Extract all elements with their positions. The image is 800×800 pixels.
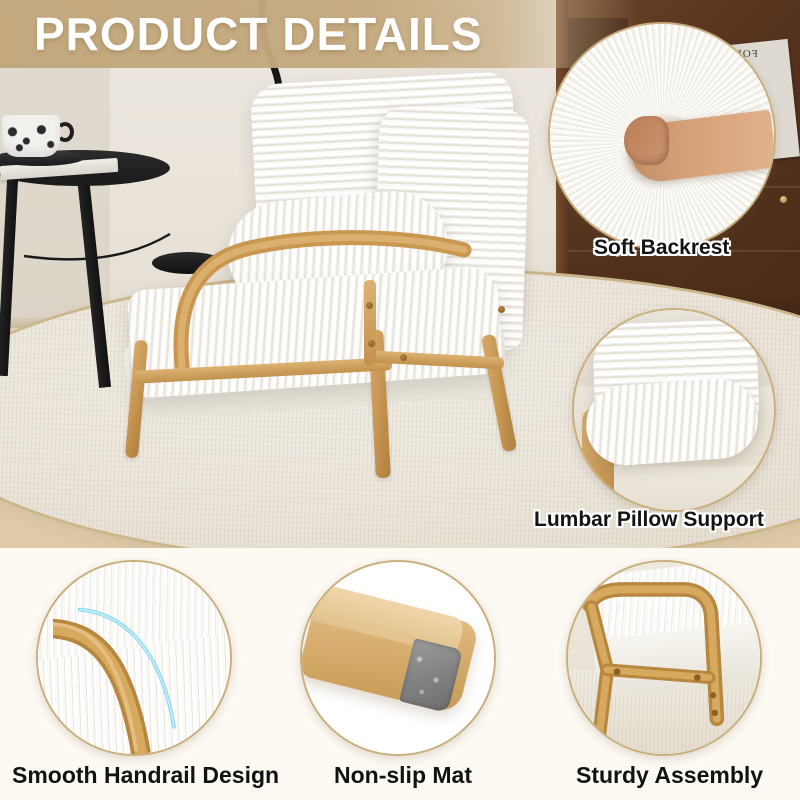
feature-label-smooth-handrail: Smooth Handrail Design <box>12 762 279 789</box>
chair-post-vertical <box>364 280 376 366</box>
assembly-pin <box>400 354 407 361</box>
callout-lumbar-pillow-support <box>572 308 776 512</box>
assembly-pin <box>366 302 373 309</box>
page-title: PRODUCT DETAILS <box>34 8 483 60</box>
mug-pattern <box>2 115 60 157</box>
callout-label-lumbar-pillow: Lumbar Pillow Support <box>534 508 764 532</box>
assembly-pin <box>368 340 375 347</box>
callout-soft-backrest <box>548 22 776 250</box>
chair-arm-rail <box>172 206 472 371</box>
wood-frame-assembly <box>568 562 760 754</box>
feature-label-sturdy-assembly: Sturdy Assembly <box>576 762 763 789</box>
callout-label-soft-backrest: Soft Backrest <box>594 236 729 260</box>
cabinet-knob <box>780 196 787 203</box>
feature-sturdy-assembly <box>566 560 762 756</box>
assembly-pin <box>498 306 505 313</box>
feature-non-slip-mat <box>300 560 496 756</box>
product-detail-page: FOLLOW <box>0 0 800 800</box>
wooden-handrail <box>53 604 187 754</box>
feature-smooth-handrail-design <box>36 560 232 756</box>
lumbar-pillow <box>583 376 760 468</box>
ceramic-mug <box>2 115 60 157</box>
accent-chair <box>110 78 550 498</box>
hand-fist <box>624 116 669 165</box>
feature-label-non-slip-mat: Non-slip Mat <box>334 762 472 789</box>
